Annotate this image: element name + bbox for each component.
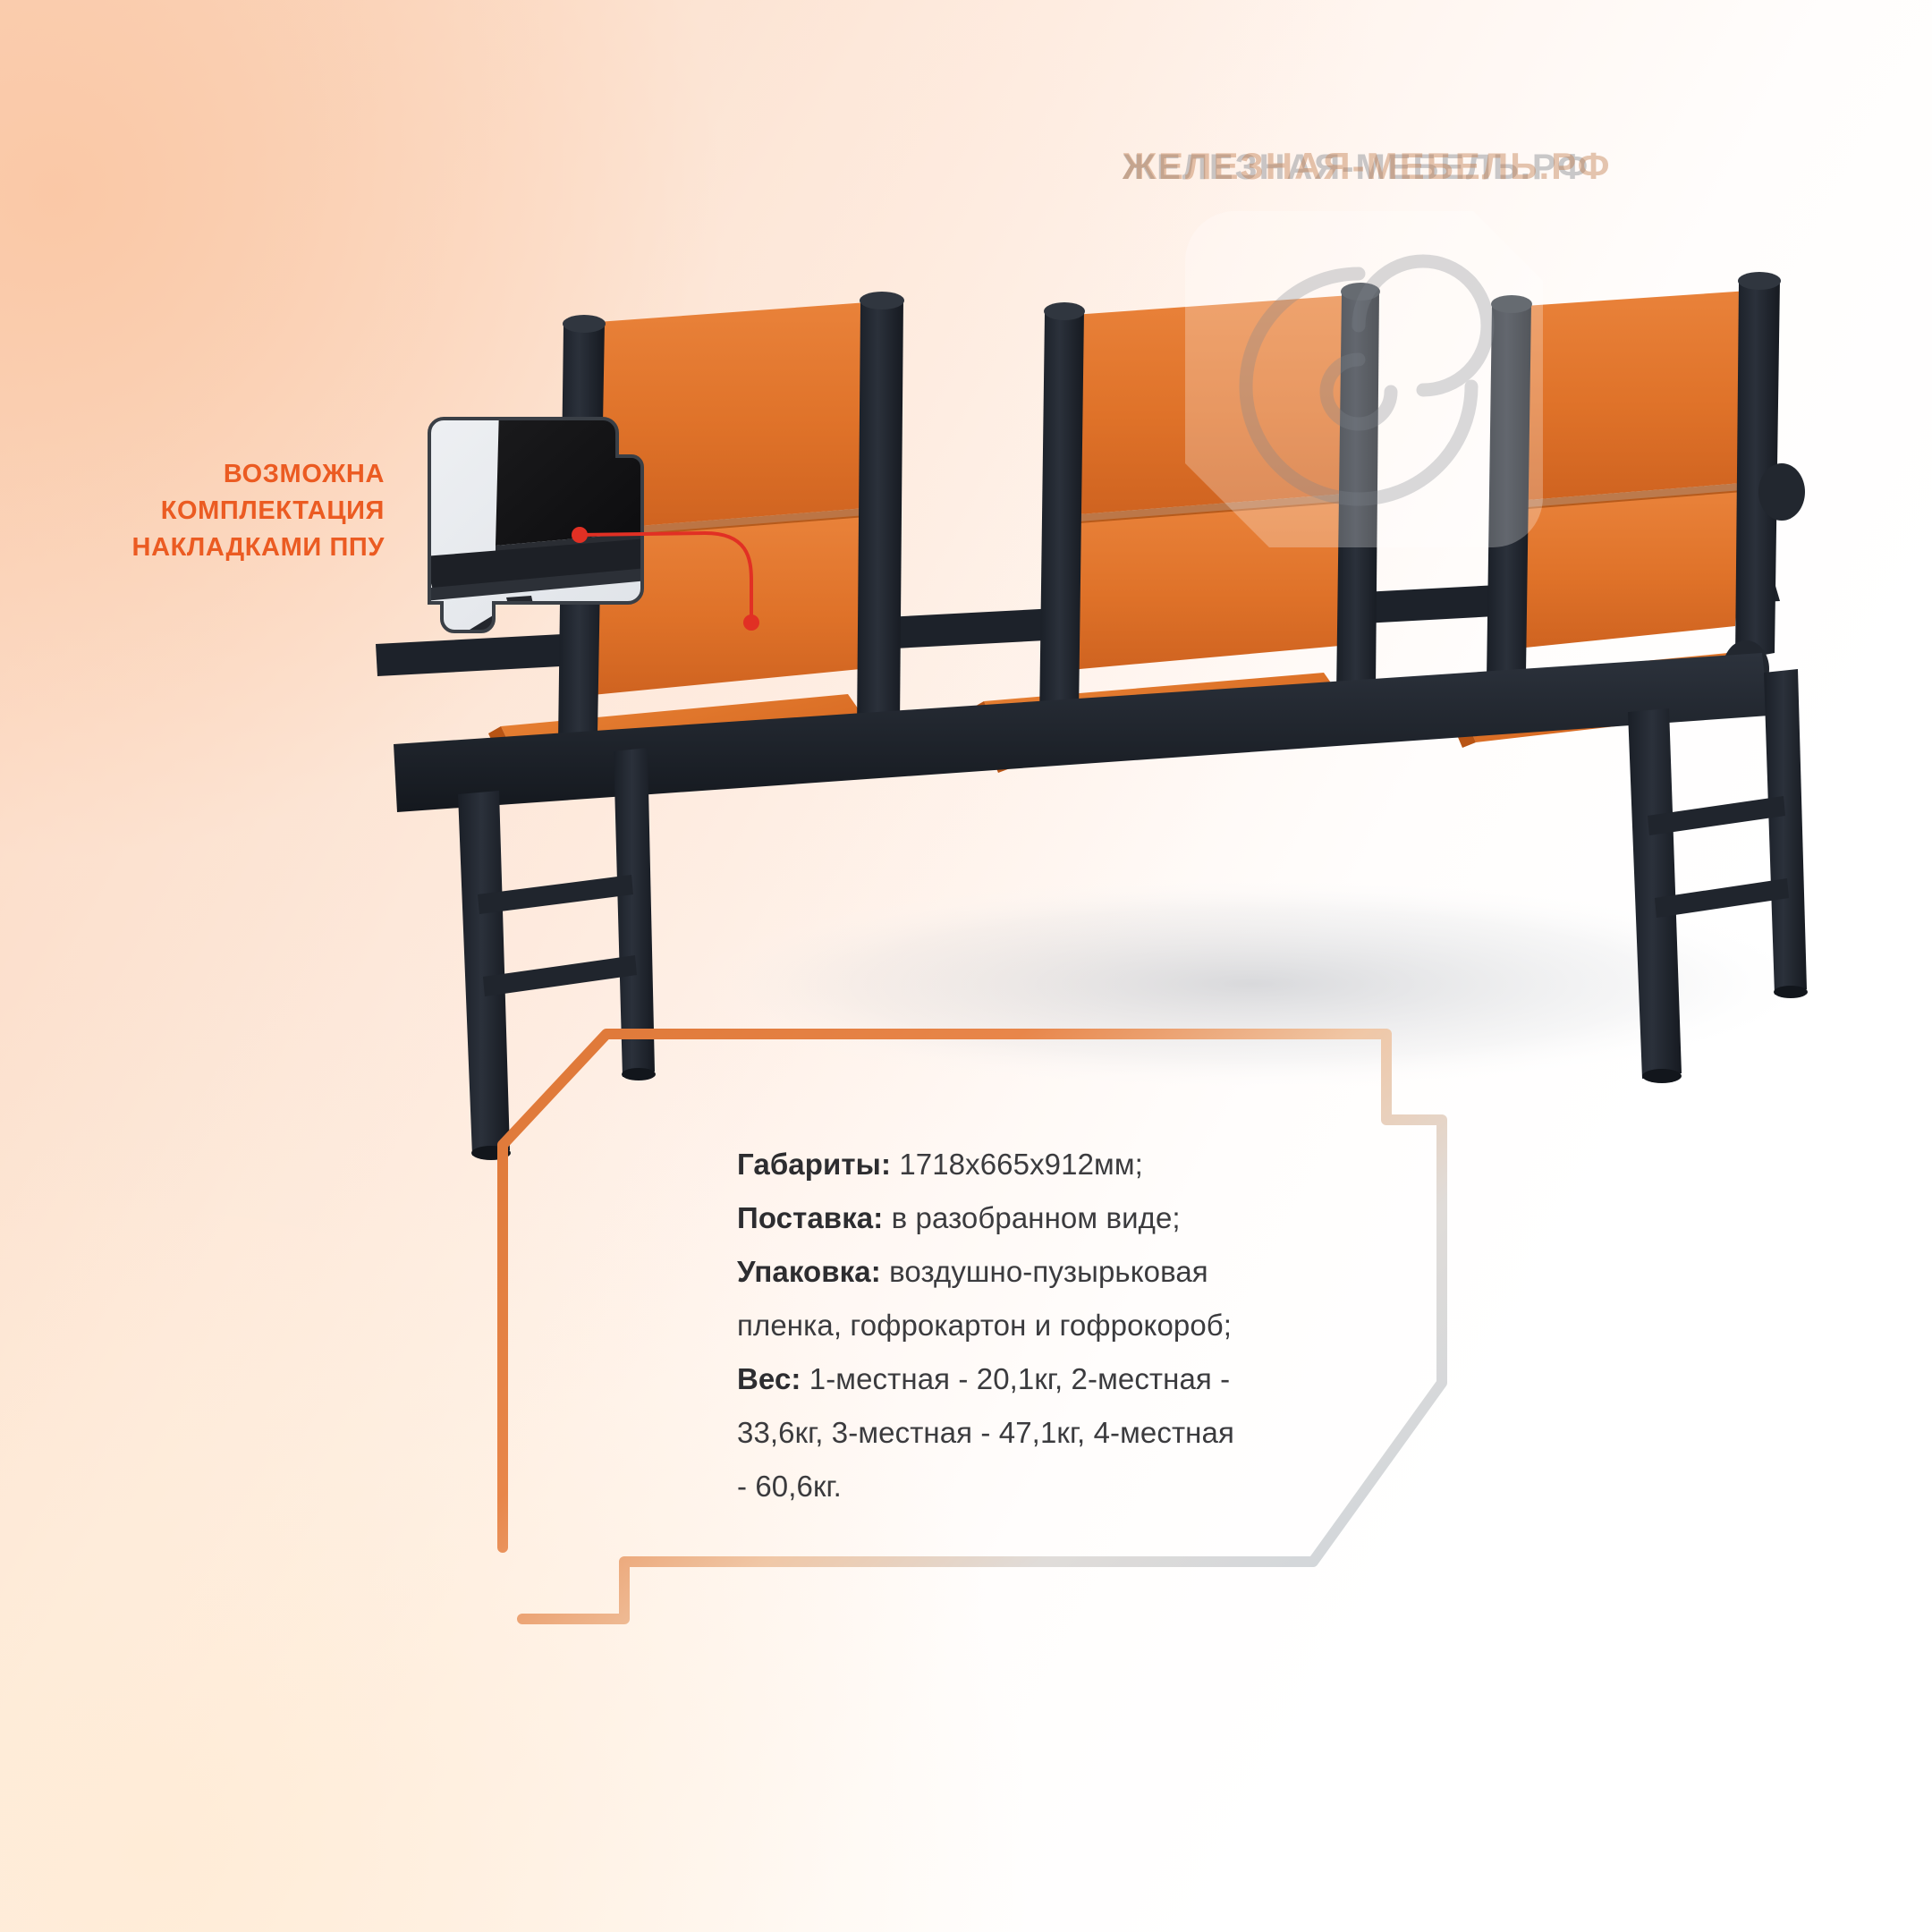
backrest-lower-2 (1060, 501, 1346, 671)
spec-row-delivery: Поставка: в разобранном виде; (737, 1191, 1426, 1245)
backrest-upper-3 (1517, 291, 1749, 501)
spec-row-weight: Вес: 1-местная - 20,1кг, 2-местная - (737, 1352, 1426, 1406)
detail-inset-panel (413, 413, 648, 637)
spec-value-weight: 1-местная - 20,1кг, 2-местная - (801, 1362, 1231, 1395)
pivot-knob-upper (1758, 463, 1805, 521)
spec-text-block: Габариты: 1718x665x912мм; Поставка: в ра… (737, 1138, 1426, 1513)
backrest-lower-3 (1508, 490, 1742, 649)
spec-label-dimensions: Габариты: (737, 1148, 891, 1181)
spec-row-dimensions: Габариты: 1718x665x912мм; (737, 1138, 1426, 1191)
spec-row-weight-cont2: - 60,6кг. (737, 1460, 1426, 1513)
watermark-label-bottom: ЖЕЛЕЗНАЯ-МЕБЕЛЬ.РФ (1122, 145, 1611, 187)
backrest-upper-2 (1068, 295, 1351, 515)
spec-label-weight: Вес: (737, 1362, 801, 1395)
spec-row-packaging: Упаковка: воздушно-пузырьковая (737, 1245, 1426, 1299)
spec-value-packaging: воздушно-пузырьковая (881, 1255, 1208, 1288)
leg-front-left (458, 791, 510, 1156)
upright-mid-1 (857, 299, 903, 733)
spec-value-dimensions: 1718x665x912мм; (891, 1148, 1143, 1181)
watermark-text-top: ЖЕЛЕЗНАЯ-МЕБЕЛЬ.РФ (1122, 148, 1589, 187)
upright-mid-4 (1487, 302, 1531, 680)
callout-line-3: НАКЛАДКАМИ ППУ (0, 530, 385, 566)
spec-label-delivery: Поставка: (737, 1201, 883, 1234)
watermark-text-bottom: ЖЕЛЕЗНАЯ-МЕБЕЛЬ.РФ (1122, 145, 1611, 187)
callout-line-1: ВОЗМОЖНА (0, 456, 385, 493)
spec-value-weight-cont1: 33,6кг, 3-местная - 47,1кг, 4-местная (737, 1416, 1234, 1449)
ppu-callout-label: ВОЗМОЖНА КОМПЛЕКТАЦИЯ НАКЛАДКАМИ ППУ (0, 456, 385, 567)
leg-back-left (614, 748, 655, 1077)
upright-mid-2 (1039, 309, 1084, 723)
spec-label-packaging: Упаковка: (737, 1255, 881, 1288)
foot-front-left (471, 1146, 511, 1160)
foot-back-right (1774, 986, 1808, 998)
spec-row-weight-cont1: 33,6кг, 3-местная - 47,1кг, 4-местная (737, 1406, 1426, 1460)
product-infographic: ЖЕЛЕЗНАЯ-МЕБЕЛЬ.РФ ЖЕЛЕЗНАЯ-МЕБЕЛЬ.РФ ВО… (0, 0, 1932, 1932)
stretcher-left-lower (483, 955, 637, 996)
spec-value-delivery: в разобранном виде; (883, 1201, 1180, 1234)
upright-mid-3 (1336, 290, 1379, 696)
spec-value-packaging-cont: пленка, гофрокартон и гофрокороб; (737, 1309, 1232, 1342)
callout-line-2: КОМПЛЕКТАЦИЯ (0, 493, 385, 530)
watermark-label-top: ЖЕЛЕЗНАЯ-МЕБЕЛЬ.РФ (1122, 148, 1589, 187)
inset-backrest (496, 401, 657, 546)
spec-row-packaging-cont: пленка, гофрокартон и гофрокороб; (737, 1299, 1426, 1352)
foot-back-left (622, 1068, 656, 1080)
spec-value-weight-cont2: - 60,6кг. (737, 1470, 842, 1503)
foot-front-right (1642, 1069, 1682, 1083)
